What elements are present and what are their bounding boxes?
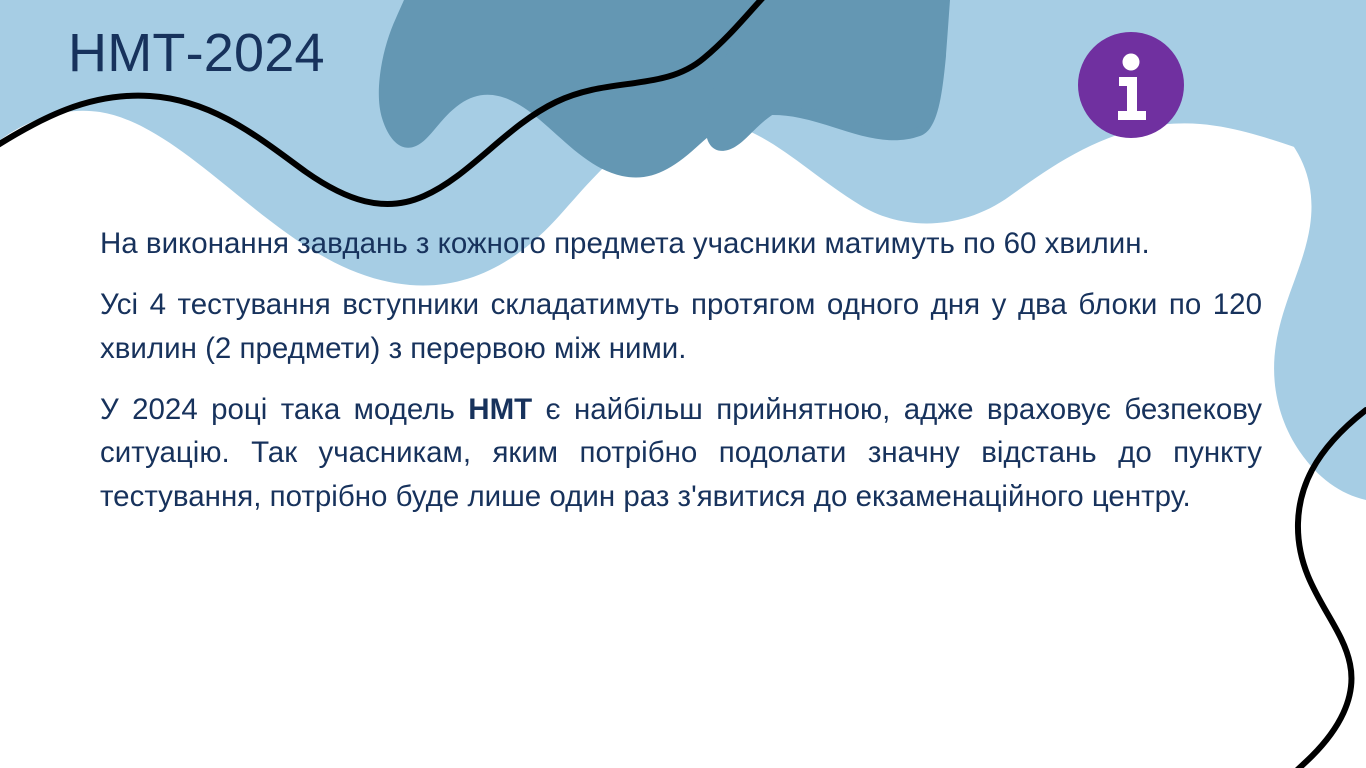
- top-right-medium-blue-lobe-shape: [706, 0, 946, 151]
- body-paragraph-1: На виконання завдань з кожного предмета …: [100, 222, 1262, 265]
- slide-title: НМТ-2024: [68, 22, 325, 86]
- info-icon[interactable]: [1078, 32, 1184, 138]
- presentation-slide: НМТ-2024 На виконання завдань з кожного …: [0, 0, 1366, 768]
- info-letter-i-glyph: [1078, 32, 1184, 138]
- slide-body-text: На виконання завдань з кожного предмета …: [100, 222, 1262, 518]
- paragraph-3-bold-term: НМТ: [468, 393, 532, 426]
- body-paragraph-2: Усі 4 тестування вступники складатимуть …: [100, 283, 1262, 370]
- right-black-wave-line-shape: [1290, 410, 1366, 768]
- top-center-medium-blue-blob-shape: [379, 0, 950, 178]
- body-paragraph-3: У 2024 році така модель НМТ є найбільш п…: [100, 388, 1262, 518]
- paragraph-3-prefix: У 2024 році така модель: [100, 393, 468, 426]
